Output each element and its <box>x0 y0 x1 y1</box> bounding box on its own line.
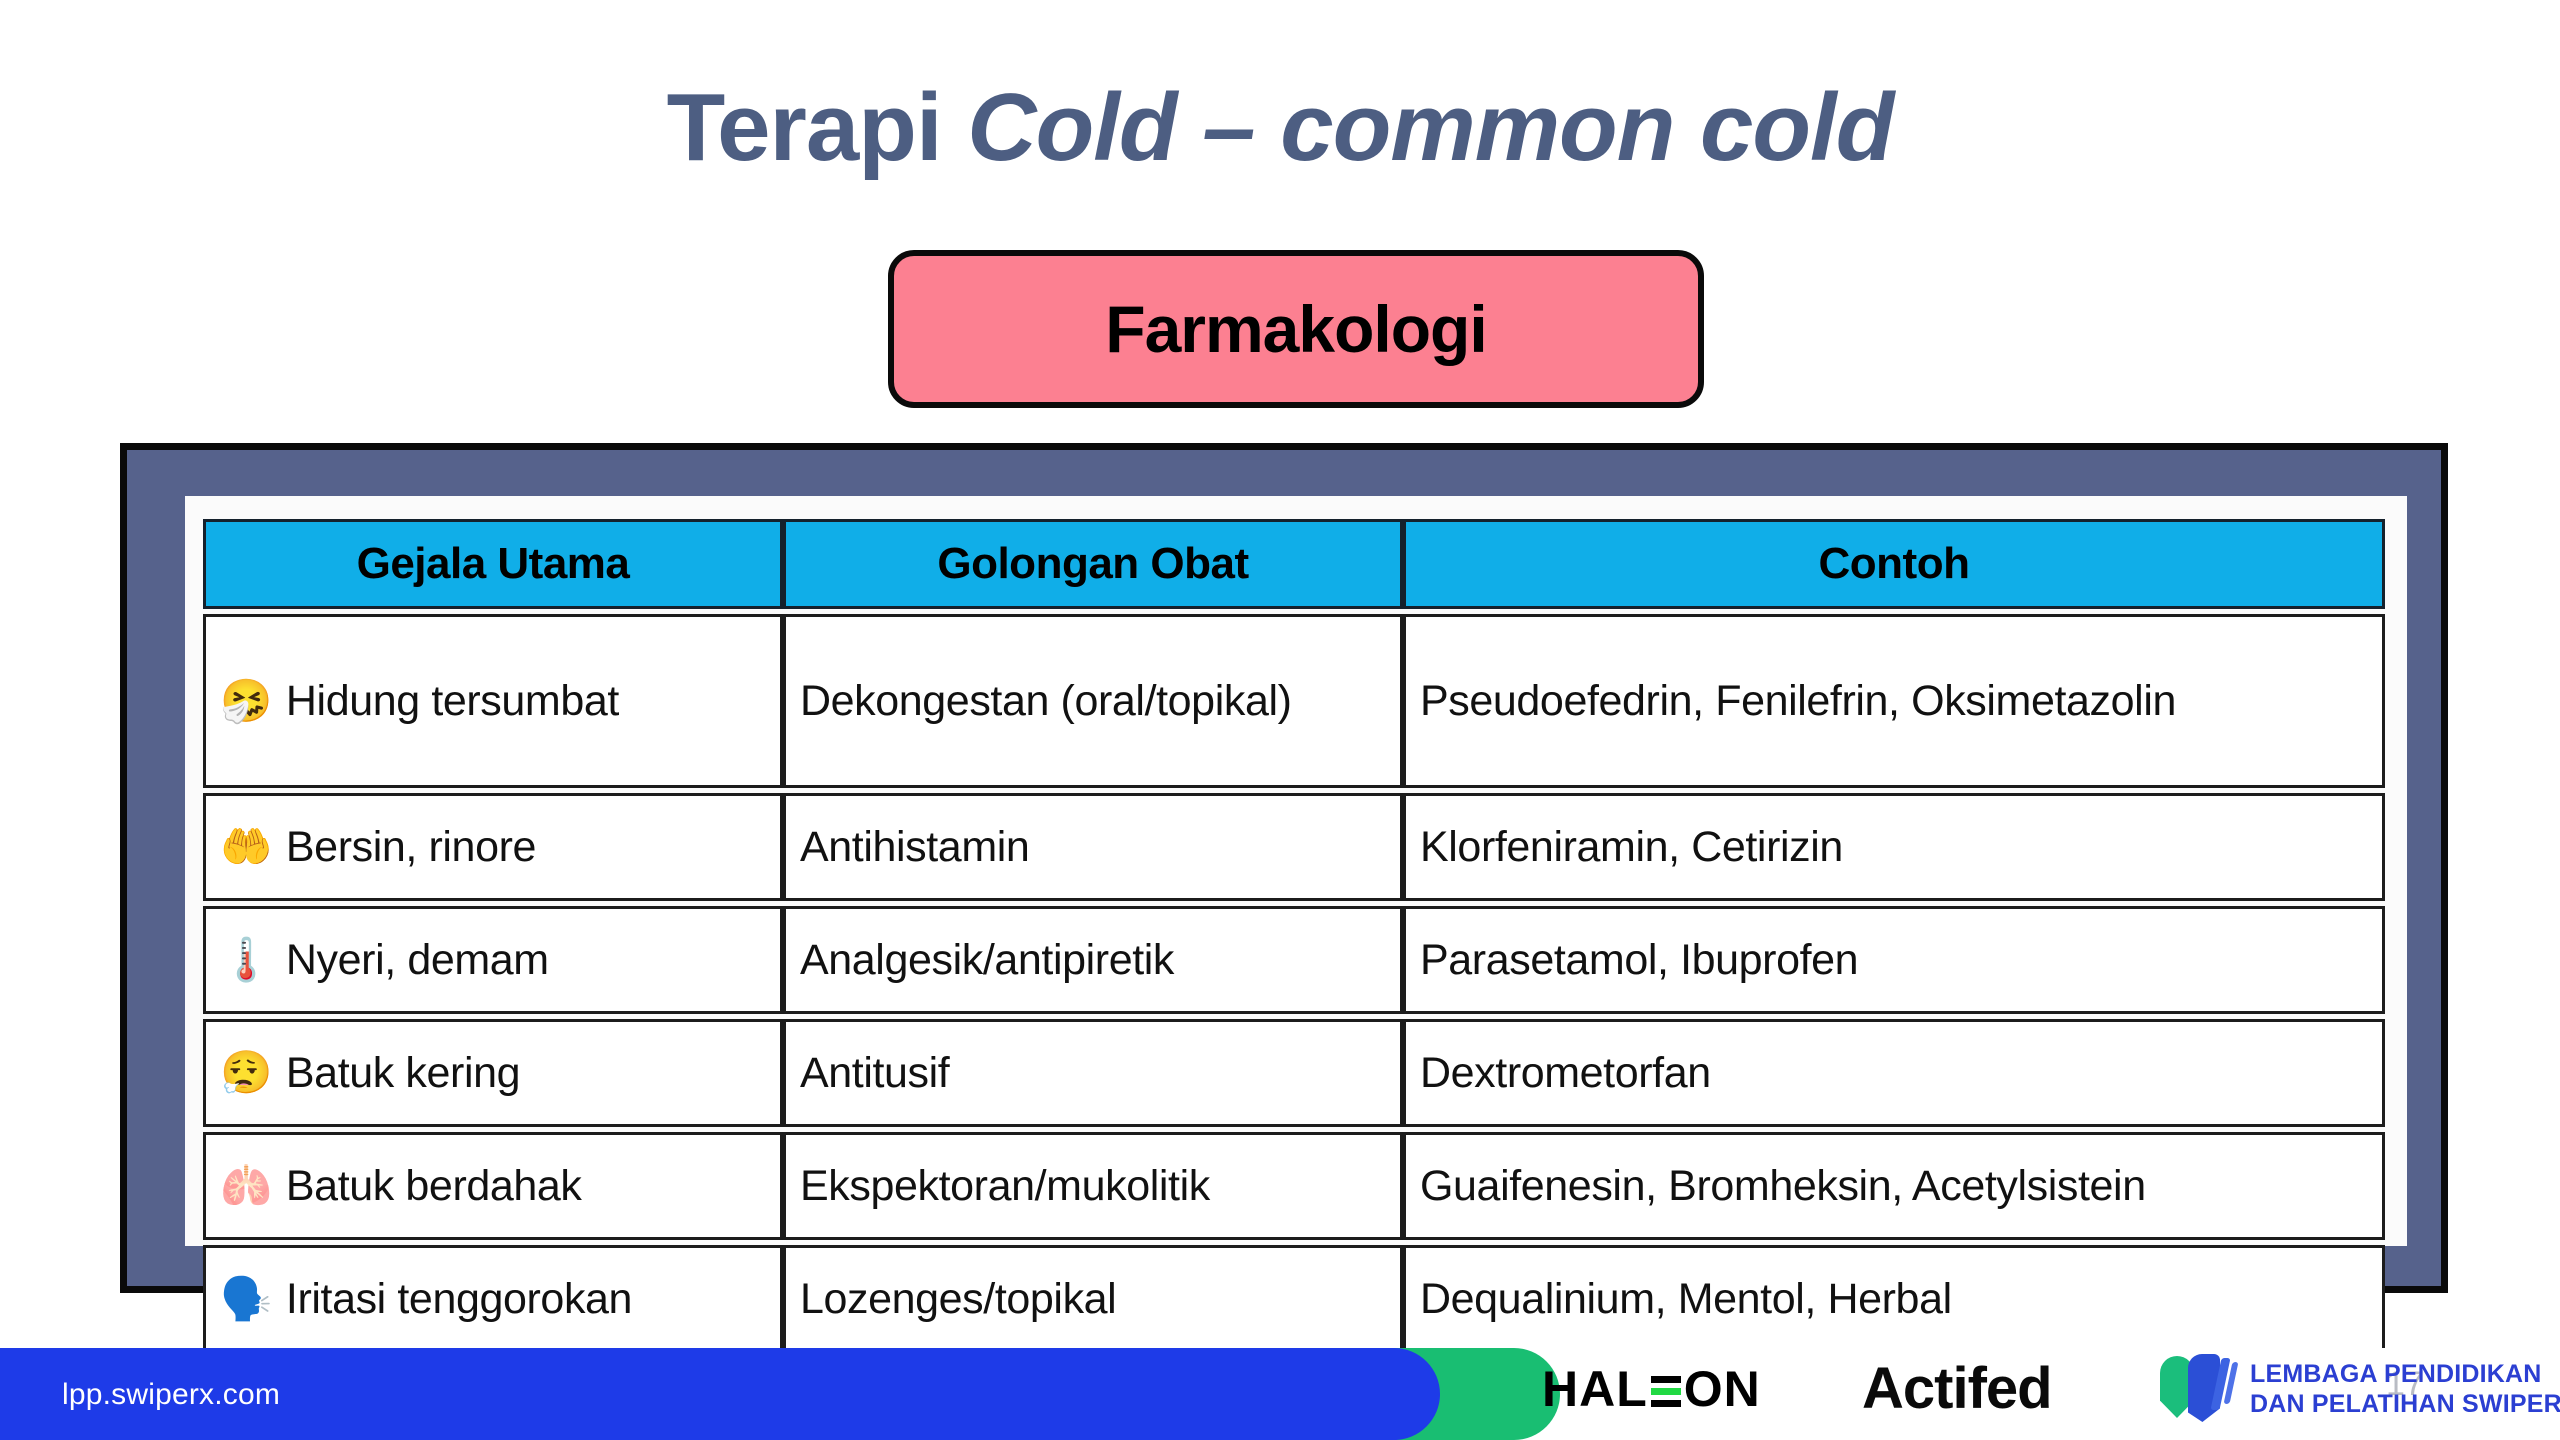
symptom-label: Nyeri, demam <box>286 936 766 984</box>
lungs-icon: 🫁 <box>220 1165 272 1207</box>
therapy-table: Gejala Utama Golongan Obat Contoh 🤧 Hidu… <box>203 514 2385 1358</box>
haleon-logo: HAL ON <box>1542 1360 1761 1418</box>
section-badge: Farmakologi <box>888 250 1704 408</box>
title-emphasis: Cold – common cold <box>967 74 1893 181</box>
symptom-label: Iritasi tenggorokan <box>286 1275 766 1323</box>
footer-url[interactable]: lpp.swiperx.com <box>62 1378 280 1412</box>
cell-drug-class: Lozenges/topikal <box>783 1245 1403 1353</box>
cell-drug-class: Ekspektoran/mukolitik <box>783 1132 1403 1240</box>
lpp-logo-text: LEMBAGA PENDIDIKAN DAN PELATIHAN SWIPERX <box>2250 1359 2560 1420</box>
title-prefix: Terapi <box>667 74 968 181</box>
cell-symptom: 😮‍💨 Batuk kering <box>203 1019 783 1127</box>
cell-drug-class: Dekongestan (oral/topikal) <box>783 614 1403 788</box>
symptom-label: Batuk berdahak <box>286 1162 766 1210</box>
cell-symptom: 🫁 Batuk berdahak <box>203 1132 783 1240</box>
haleon-logo-part2: ON <box>1684 1360 1761 1418</box>
lpp-swiperx-logo: LEMBAGA PENDIDIKAN DAN PELATIHAN SWIPERX <box>2160 1354 2560 1424</box>
symptom-label: Batuk kering <box>286 1049 766 1097</box>
table-row: 🤲 Bersin, rinore Antihistamin Klorfenira… <box>203 793 2385 901</box>
table-header-row: Gejala Utama Golongan Obat Contoh <box>203 519 2385 609</box>
cell-symptom: 🤧 Hidung tersumbat <box>203 614 783 788</box>
lpp-logo-line2: DAN PELATIHAN SWIPERX <box>2250 1390 2560 1418</box>
open-hands-icon: 🤲 <box>220 826 272 868</box>
symptom-label: Bersin, rinore <box>286 823 766 871</box>
cell-examples: Klorfeniramin, Cetirizin <box>1403 793 2385 901</box>
table-row: 🗣️ Iritasi tenggorokan Lozenges/topikal … <box>203 1245 2385 1353</box>
sneezing-face-icon: 🤧 <box>220 680 272 722</box>
cell-examples: Dequalinium, Mentol, Herbal <box>1403 1245 2385 1353</box>
table-row: 🫁 Batuk berdahak Ekspektoran/mukolitik G… <box>203 1132 2385 1240</box>
page-title: Terapi Cold – common cold <box>0 78 2560 179</box>
haleon-logo-part1: HAL <box>1542 1360 1648 1418</box>
column-header-gejala: Gejala Utama <box>203 519 783 609</box>
cell-examples: Parasetamol, Ibuprofen <box>1403 906 2385 1014</box>
cell-symptom: 🌡️ Nyeri, demam <box>203 906 783 1014</box>
footer: lpp.swiperx.com HAL ON Actifed 17 LEMBAG… <box>0 1348 2560 1440</box>
thermometer-icon: 🌡️ <box>220 939 272 981</box>
cell-examples: Pseudoefedrin, Fenilefrin, Oksimetazolin <box>1403 614 2385 788</box>
cell-drug-class: Analgesik/antipiretik <box>783 906 1403 1014</box>
symptom-label: Hidung tersumbat <box>286 677 766 725</box>
speaking-head-icon: 🗣️ <box>220 1278 272 1320</box>
cell-symptom: 🤲 Bersin, rinore <box>203 793 783 901</box>
lpp-book-mark-icon <box>2160 1354 2236 1424</box>
section-badge-label: Farmakologi <box>1105 291 1486 367</box>
column-header-contoh: Contoh <box>1403 519 2385 609</box>
lpp-logo-line1: LEMBAGA PENDIDIKAN <box>2250 1360 2542 1388</box>
cell-symptom: 🗣️ Iritasi tenggorokan <box>203 1245 783 1353</box>
table-row: 🤧 Hidung tersumbat Dekongestan (oral/top… <box>203 614 2385 788</box>
haleon-e-glyph-icon <box>1651 1376 1681 1407</box>
column-header-golongan: Golongan Obat <box>783 519 1403 609</box>
face-exhaling-icon: 😮‍💨 <box>220 1052 272 1094</box>
cell-drug-class: Antitusif <box>783 1019 1403 1127</box>
cell-examples: Guaifenesin, Bromheksin, Acetylsistein <box>1403 1132 2385 1240</box>
table-frame: Gejala Utama Golongan Obat Contoh 🤧 Hidu… <box>120 443 2448 1293</box>
table-inner-panel: Gejala Utama Golongan Obat Contoh 🤧 Hidu… <box>185 496 2407 1246</box>
cell-examples: Dextrometorfan <box>1403 1019 2385 1127</box>
cell-drug-class: Antihistamin <box>783 793 1403 901</box>
table-row: 😮‍💨 Batuk kering Antitusif Dextrometorfa… <box>203 1019 2385 1127</box>
table-row: 🌡️ Nyeri, demam Analgesik/antipiretik Pa… <box>203 906 2385 1014</box>
actifed-logo: Actifed <box>1862 1355 2052 1422</box>
